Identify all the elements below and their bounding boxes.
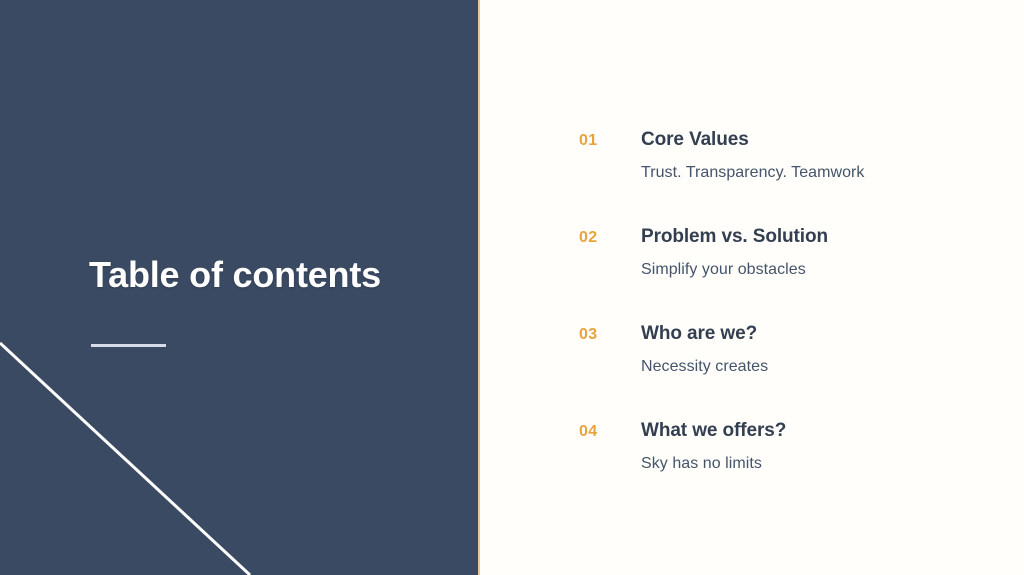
slide-canvas: Table of contents 01 Core Values Trust. …	[0, 0, 1024, 575]
list-item[interactable]: 01 Core Values Trust. Transparency. Team…	[579, 128, 979, 225]
page-title: Table of contents	[89, 253, 419, 297]
toc-item-body: Core Values Trust. Transparency. Teamwor…	[641, 128, 979, 183]
toc-item-heading: Who are we?	[641, 322, 979, 346]
toc-item-body: Who are we? Necessity creates	[641, 322, 979, 377]
toc-item-body: Problem vs. Solution Simplify your obsta…	[641, 225, 979, 280]
list-item[interactable]: 04 What we offers? Sky has no limits	[579, 419, 979, 516]
toc-item-heading: Core Values	[641, 128, 979, 152]
toc-item-number: 02	[579, 229, 625, 247]
toc-item-number: 01	[579, 132, 625, 150]
toc-item-number: 03	[579, 326, 625, 344]
toc-item-subtitle: Necessity creates	[641, 357, 979, 377]
vertical-accent-rule	[478, 0, 480, 575]
table-of-contents-list: 01 Core Values Trust. Transparency. Team…	[579, 128, 979, 516]
title-panel: Table of contents	[0, 0, 478, 575]
toc-item-subtitle: Simplify your obstacles	[641, 260, 979, 280]
list-item[interactable]: 03 Who are we? Necessity creates	[579, 322, 979, 419]
list-item[interactable]: 02 Problem vs. Solution Simplify your ob…	[579, 225, 979, 322]
toc-item-heading: What we offers?	[641, 419, 979, 443]
title-underline-rule	[91, 344, 166, 347]
toc-item-number: 04	[579, 423, 625, 441]
toc-item-subtitle: Trust. Transparency. Teamwork	[641, 163, 979, 183]
toc-item-subtitle: Sky has no limits	[641, 454, 979, 474]
toc-item-heading: Problem vs. Solution	[641, 225, 979, 249]
toc-item-body: What we offers? Sky has no limits	[641, 419, 979, 474]
